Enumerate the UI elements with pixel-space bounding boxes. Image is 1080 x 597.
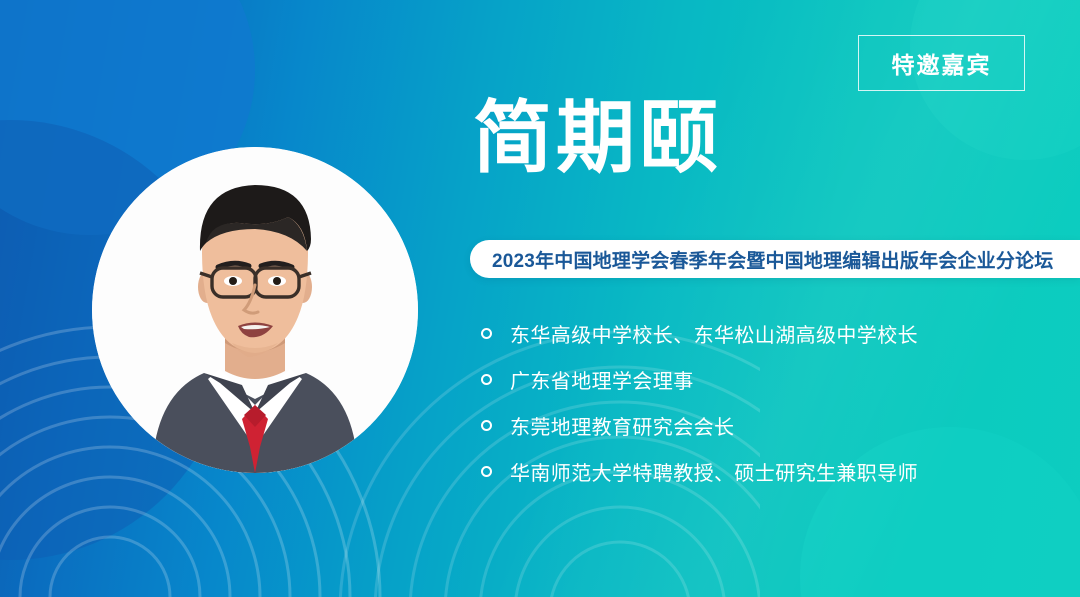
credential-text: 广东省地理学会理事 <box>510 365 694 394</box>
guest-badge-label: 特邀嘉宾 <box>892 46 992 80</box>
event-banner: 2023年中国地理学会春季年会暨中国地理编辑出版年会企业分论坛 <box>470 240 1080 278</box>
list-item: 东华高级中学校长、东华松山湖高级中学校长 <box>481 310 1061 356</box>
speaker-name: 简期颐 <box>473 98 722 177</box>
ring-bullet-icon <box>481 328 492 339</box>
list-item: 广东省地理学会理事 <box>481 356 1061 402</box>
credentials-list: 东华高级中学校长、东华松山湖高级中学校长 广东省地理学会理事 东莞地理教育研究会… <box>481 310 1061 494</box>
speaker-intro-slide: 特邀嘉宾 简期颐 2023年中国地理学会春季年会暨中国地理编辑出版年会企业分论坛… <box>0 0 1080 597</box>
ring-bullet-icon <box>481 466 492 477</box>
list-item: 华南师范大学特聘教授、硕士研究生兼职导师 <box>481 448 1061 494</box>
guest-badge: 特邀嘉宾 <box>858 35 1025 91</box>
credential-text: 东莞地理教育研究会会长 <box>510 411 734 440</box>
list-item: 东莞地理教育研究会会长 <box>481 402 1061 448</box>
speaker-portrait <box>92 147 418 473</box>
ring-bullet-icon <box>481 420 492 431</box>
credential-text: 东华高级中学校长、东华松山湖高级中学校长 <box>510 319 918 348</box>
ring-bullet-icon <box>481 374 492 385</box>
credential-text: 华南师范大学特聘教授、硕士研究生兼职导师 <box>510 457 918 486</box>
portrait-illustration <box>92 147 418 473</box>
event-banner-text: 2023年中国地理学会春季年会暨中国地理编辑出版年会企业分论坛 <box>492 246 1053 273</box>
